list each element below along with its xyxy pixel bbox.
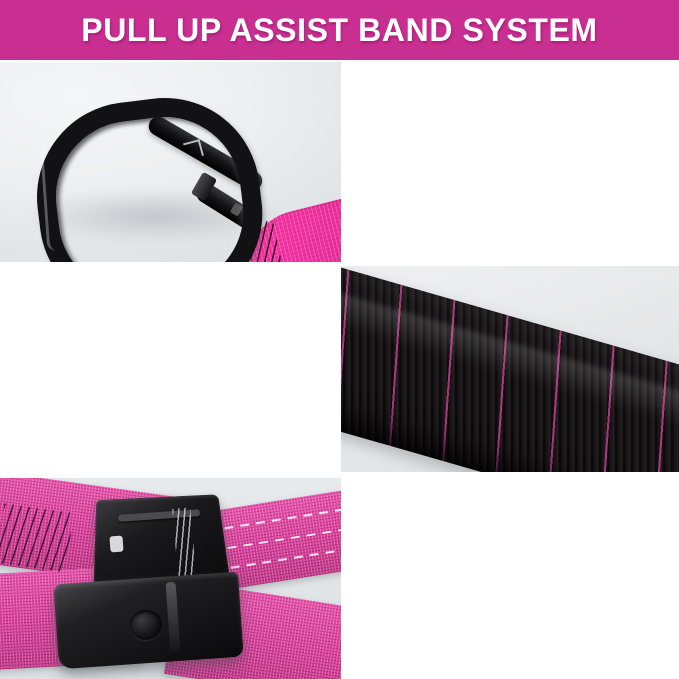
- carabiner-hook-photo: [0, 62, 341, 262]
- assistance-adjustable-panel: ASSISTANCE ADJUSTABLE STEEL BUCKLE The a…: [341, 478, 679, 679]
- header-banner: PULL UP ASSIST BAND SYSTEM: [0, 0, 679, 60]
- carabiner-bend: [26, 87, 273, 262]
- strap-stitching: [0, 503, 74, 572]
- adjustable-buckle-photo: [0, 478, 341, 679]
- metal-steel-buckle-panel: METAL STEEL BUCKLE One-piece design, the…: [341, 62, 679, 262]
- cloth-cover-protection-panel: CLOTH COVER PROTECTION The cloth cover p…: [0, 266, 341, 472]
- cover-photo-backdrop: [341, 266, 679, 472]
- buckle-white-tab: [109, 536, 123, 553]
- cloth-cover-photo: [341, 266, 679, 472]
- page-title: PULL UP ASSIST BAND SYSTEM: [81, 12, 597, 49]
- buckle-photo-backdrop: [0, 478, 341, 679]
- infographic-page: PULL UP ASSIST BAND SYSTEM METAL STEEL B…: [0, 0, 679, 679]
- hook-photo-backdrop: [0, 62, 341, 262]
